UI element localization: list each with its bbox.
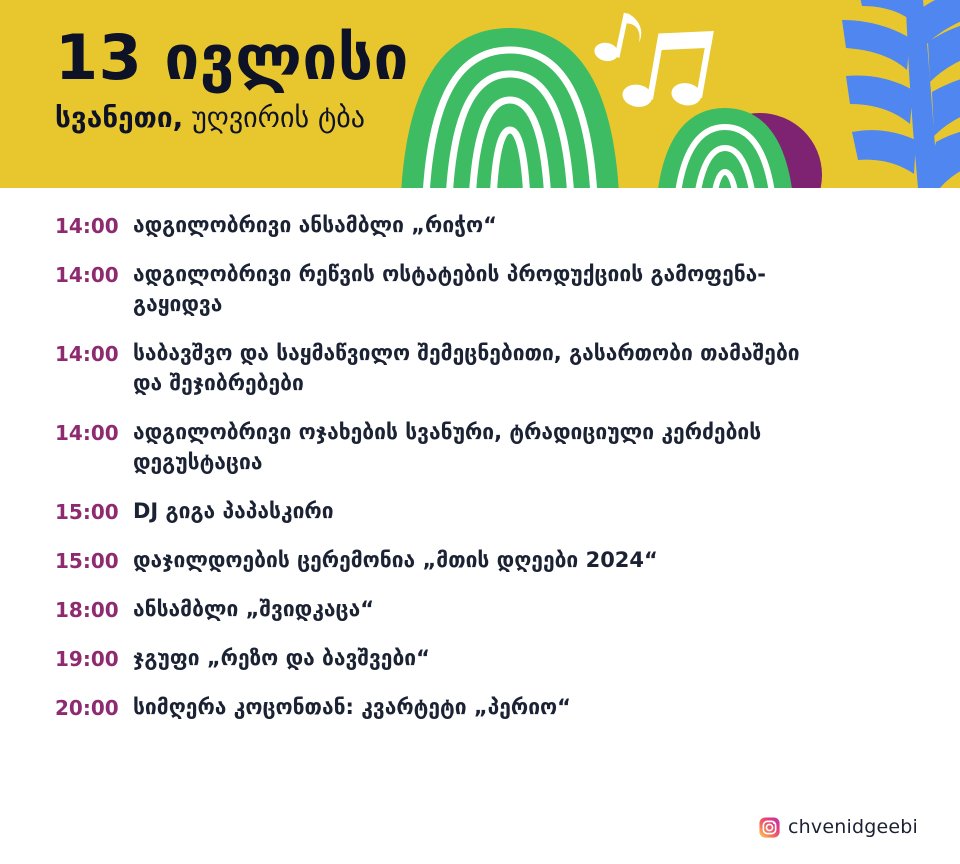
schedule-row: 14:00 ადგილობრივი რეწვის ოსტატების პროდუ… xyxy=(55,259,920,320)
schedule-title: ადგილობრივი ოჯახების სვანური, ტრადიციული… xyxy=(133,417,823,478)
schedule-time: 14:00 xyxy=(55,417,133,448)
green-hill-large-shape xyxy=(400,28,620,188)
instagram-icon[interactable] xyxy=(759,817,780,838)
schedule-title: ჯგუფი „რეზო და ბავშვები“ xyxy=(133,643,823,673)
banner-text-block: 13 ივლისი სვანეთი, უღვირის ტბა xyxy=(55,26,409,133)
schedule-time: 14:00 xyxy=(55,210,133,241)
schedule-title: DJ გიგა პაპასკირი xyxy=(133,496,823,526)
schedule-time: 19:00 xyxy=(55,643,133,674)
schedule-row: 19:00 ჯგუფი „რეზო და ბავშვები“ xyxy=(55,643,920,674)
location-secondary: უღვირის ტბა xyxy=(192,101,365,134)
schedule-row: 20:00 სიმღერა კოცონთან: კვარტეტი „პერიო“ xyxy=(55,692,920,723)
schedule-time: 18:00 xyxy=(55,594,133,625)
header-banner: 13 ივლისი სვანეთი, უღვირის ტბა xyxy=(0,0,960,188)
schedule-time: 20:00 xyxy=(55,692,133,723)
page-title: 13 ივლისი xyxy=(55,26,409,89)
green-hill-small-shape xyxy=(655,108,795,188)
schedule-title: ადგილობრივი ანსამბლი „რიჭო“ xyxy=(133,210,823,240)
schedule-title: დაჯილდოების ცერემონია „მთის დღეები 2024“ xyxy=(133,545,823,575)
schedule-title: საბავშვო და საყმაწვილო შემეცნებითი, გასა… xyxy=(133,338,823,399)
event-location: სვანეთი, უღვირის ტბა xyxy=(55,103,409,132)
music-notes-shape xyxy=(593,8,714,117)
schedule-time: 14:00 xyxy=(55,338,133,369)
blue-plant-shape xyxy=(842,0,960,188)
social-footer[interactable]: chvenidgeebi xyxy=(759,816,918,838)
schedule-row: 15:00 დაჯილდოების ცერემონია „მთის დღეები… xyxy=(55,545,920,576)
schedule-list: 14:00 ადგილობრივი ანსამბლი „რიჭო“ 14:00 … xyxy=(0,188,960,741)
instagram-handle[interactable]: chvenidgeebi xyxy=(788,816,918,838)
schedule-row: 14:00 საბავშვო და საყმაწვილო შემეცნებითი… xyxy=(55,338,920,399)
schedule-row: 15:00 DJ გიგა პაპასკირი xyxy=(55,496,920,527)
schedule-title: სიმღერა კოცონთან: კვარტეტი „პერიო“ xyxy=(133,692,823,722)
schedule-row: 18:00 ანსამბლი „შვიდკაცა“ xyxy=(55,594,920,625)
schedule-title: ანსამბლი „შვიდკაცა“ xyxy=(133,594,823,624)
schedule-time: 14:00 xyxy=(55,259,133,290)
schedule-time: 15:00 xyxy=(55,496,133,527)
schedule-title: ადგილობრივი რეწვის ოსტატების პროდუქციის … xyxy=(133,259,823,320)
schedule-row: 14:00 ადგილობრივი ანსამბლი „რიჭო“ xyxy=(55,210,920,241)
poster-canvas: 13 ივლისი სვანეთი, უღვირის ტბა 14:00 ადგ… xyxy=(0,0,960,864)
purple-circle-shape xyxy=(698,113,822,188)
location-primary: სვანეთი, xyxy=(55,101,183,134)
schedule-row: 14:00 ადგილობრივი ოჯახების სვანური, ტრად… xyxy=(55,417,920,478)
schedule-time: 15:00 xyxy=(55,545,133,576)
